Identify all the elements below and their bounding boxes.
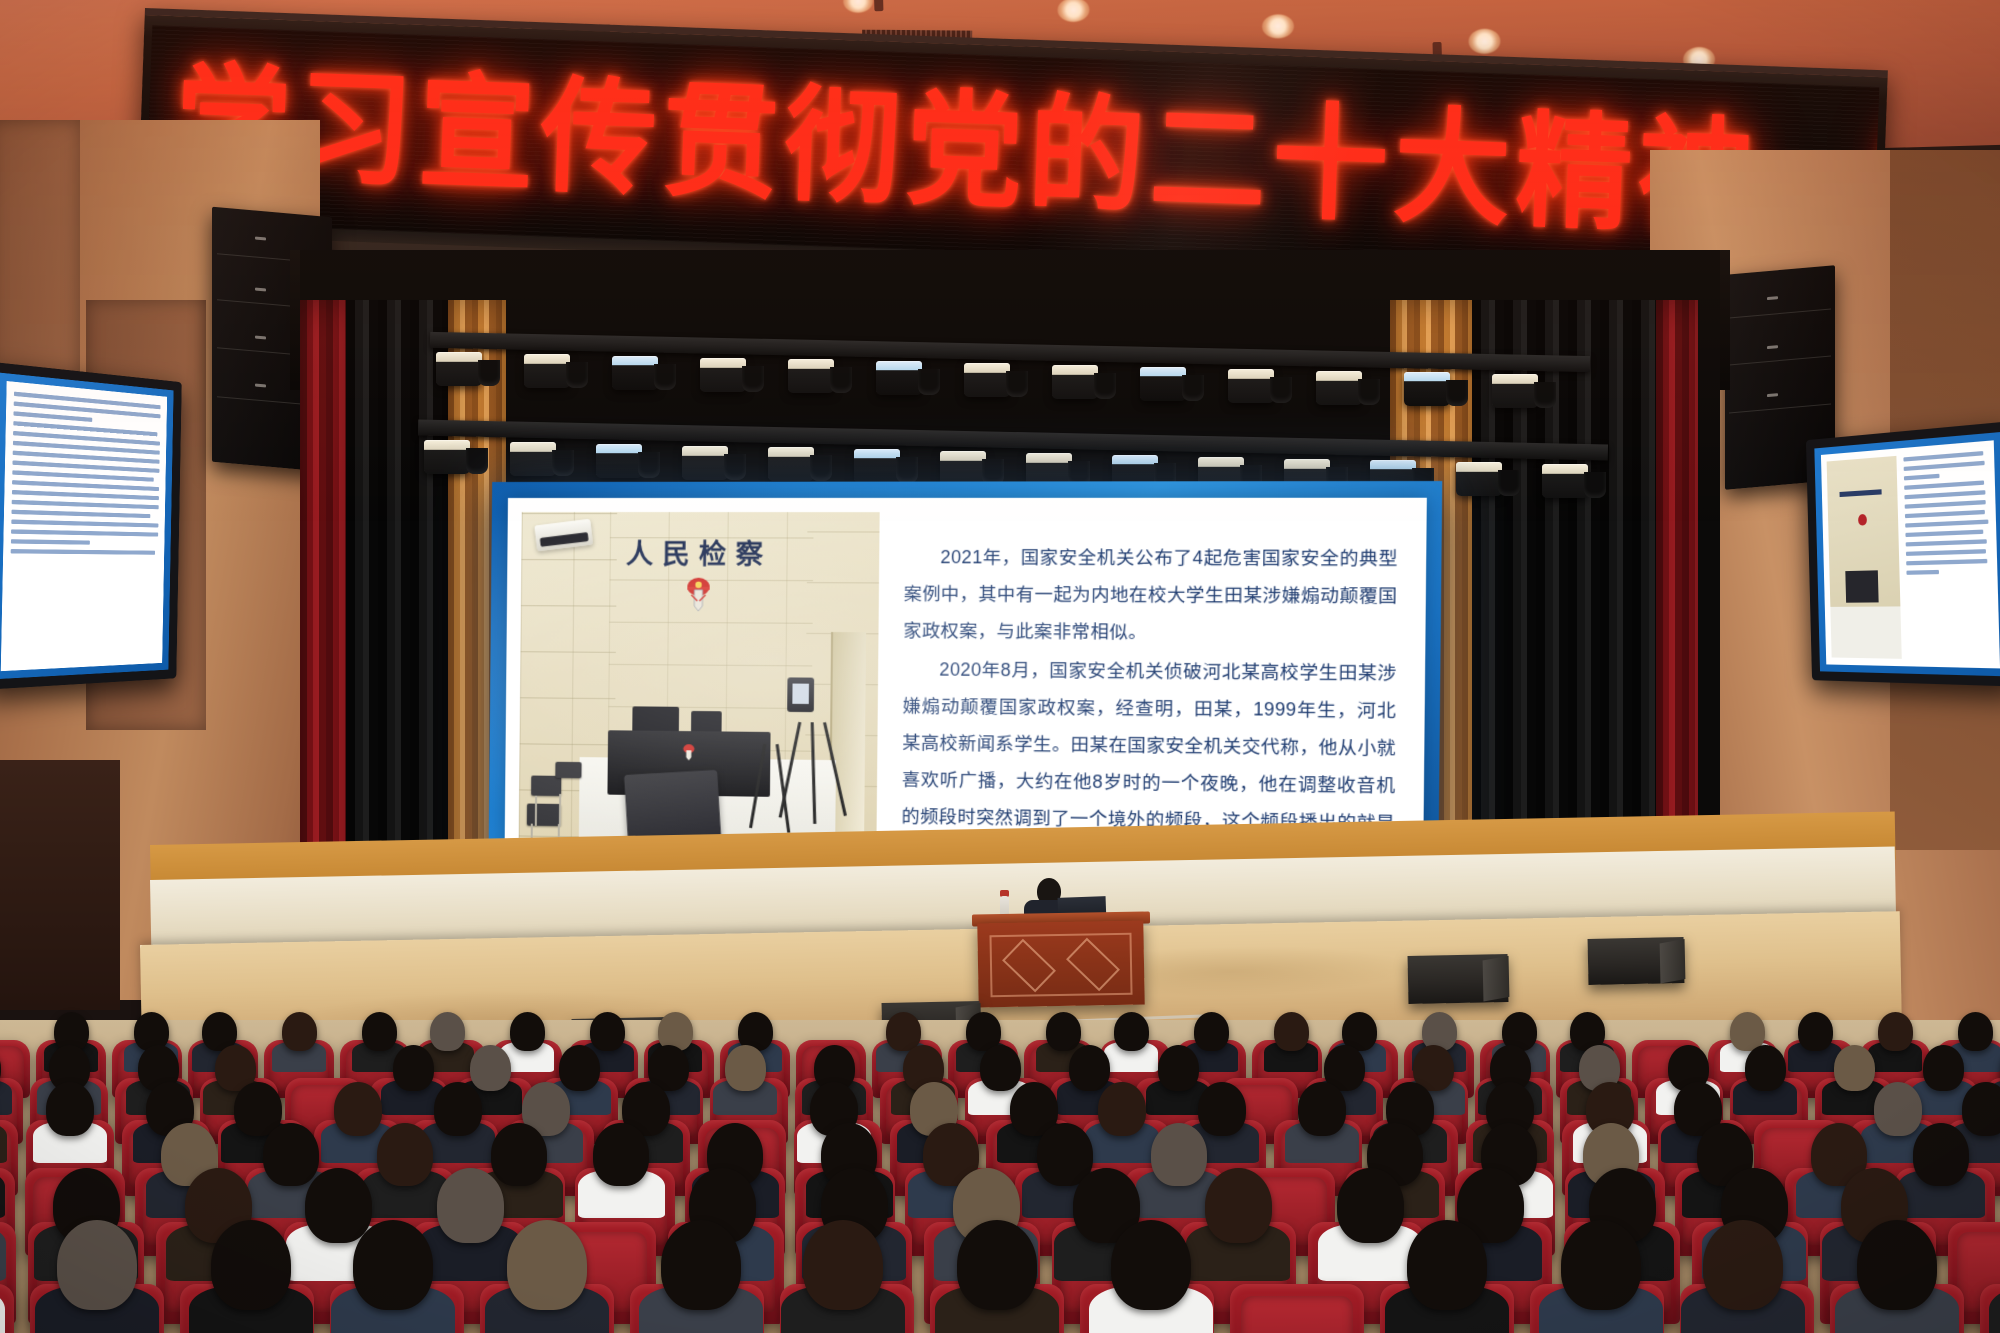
audience-member-head [1274, 1012, 1309, 1051]
audience-member-head [1111, 1220, 1191, 1310]
audience-member-head [1098, 1082, 1146, 1136]
stage-par-light [1542, 464, 1588, 498]
stage-light-body [638, 452, 660, 478]
audience-member-head [980, 1045, 1021, 1091]
display-text-line [1906, 549, 1986, 556]
speaker-badge-icon [255, 236, 266, 240]
audience-member-head [957, 1220, 1037, 1310]
audience-member-head [377, 1123, 433, 1186]
stage-par-light [1052, 365, 1098, 399]
audience-member-head [57, 1220, 137, 1310]
photo-chair-leg [559, 794, 561, 826]
audience-member-head [1878, 1012, 1913, 1051]
photo-camera-monitor [787, 677, 814, 712]
curtain-black-left [346, 300, 451, 910]
photo-chair [555, 762, 581, 778]
podium-diamond-motif [1066, 938, 1120, 992]
audience-member-head [437, 1168, 504, 1243]
left-display-screen [0, 373, 174, 680]
audience-member-head [886, 1012, 921, 1051]
stage-floor-monitor [1408, 954, 1509, 1004]
display-text-line [1905, 539, 1987, 546]
audience-member-head [434, 1082, 482, 1136]
ac-vent [540, 532, 589, 547]
speaker-badge-icon [1767, 345, 1778, 349]
audience-member-head [1158, 1045, 1199, 1091]
stage-light-body [1182, 375, 1204, 401]
podium-panel [989, 933, 1132, 997]
podium-diamond-motif [1002, 939, 1056, 993]
stage-par-light [1316, 371, 1362, 405]
audience-member-head [1046, 1012, 1081, 1051]
stage-par-light [682, 446, 728, 480]
stage-par-light [788, 359, 834, 393]
stage-par-light [1492, 374, 1538, 408]
display-text-line [1905, 530, 1983, 538]
audience-member-head [1874, 1082, 1922, 1136]
audience-member-head [1923, 1045, 1964, 1091]
audience-member-head [1114, 1012, 1149, 1051]
speaker-podium [977, 921, 1144, 1008]
stage-light-body [918, 369, 940, 395]
stage-par-light [876, 361, 922, 395]
audience-member-head [353, 1220, 433, 1310]
audience-member-head [430, 1012, 465, 1051]
stage-par-light [436, 352, 482, 386]
stage-par-light [596, 444, 642, 478]
audience-member-head [507, 1220, 587, 1310]
auditorium-scene: 学习宣传贯彻党的二十大精神，推动全面贯彻实施宪法。 [0, 0, 2000, 1333]
led-banner-screen: 学习宣传贯彻党的二十大精神，推动全面贯彻实施宪法。 [145, 25, 1879, 284]
wall-dark-recess [0, 760, 120, 1010]
procuratorate-emblem-icon [683, 575, 714, 614]
audience-member-head [393, 1045, 434, 1091]
audience-member-head [305, 1168, 372, 1243]
stage-light-body [810, 455, 832, 481]
display-text-line [1904, 480, 1984, 489]
audience-member-head [334, 1082, 382, 1136]
audience-member-head [1151, 1123, 1207, 1186]
photo-chair-leg [535, 796, 537, 826]
stage-par-light [964, 363, 1010, 397]
right-display-desk [1846, 570, 1879, 602]
display-text-line [11, 539, 90, 545]
speaker-cell [1729, 356, 1830, 366]
display-text-line [12, 480, 159, 491]
display-text-line [13, 411, 92, 422]
photo-chair [531, 776, 561, 796]
right-wall-display [1806, 421, 2000, 686]
speaker-cell [1729, 403, 1830, 413]
stage-light-body [1534, 382, 1556, 408]
audience-member-head [1913, 1123, 1969, 1186]
stage-par-light [612, 356, 658, 390]
speaker-cell [1729, 309, 1830, 319]
stage-light-body [566, 362, 588, 388]
stage-par-light [1456, 462, 1502, 496]
stage-par-light [1228, 369, 1274, 403]
stage-light-body [1584, 472, 1606, 498]
stage-par-light [940, 451, 986, 485]
display-text-line [1904, 490, 1986, 499]
speaker-badge-icon [255, 287, 266, 291]
stage-par-light [510, 442, 556, 476]
stage-light-body [1446, 380, 1468, 406]
photo-caption: 人民检察 [626, 532, 773, 572]
slide-paragraph-1: 2021年，国家安全机关公布了4起危害国家安全的典型案例中，其中有一起为内地在校… [903, 539, 1398, 653]
audience-member-head [1407, 1220, 1487, 1310]
display-text-line [11, 519, 158, 527]
stage-light-body [1094, 373, 1116, 399]
audience-member-head [470, 1045, 511, 1091]
audience-member-head [491, 1123, 547, 1186]
camera-screen [792, 683, 809, 703]
display-text-line [1905, 519, 1989, 527]
audience-member-head [1798, 1012, 1833, 1051]
display-text-line [1904, 500, 1986, 509]
left-display-page [1, 381, 167, 671]
stage-light-body [478, 360, 500, 386]
speaker-badge-icon [1767, 296, 1778, 300]
photo-equipment [691, 711, 722, 734]
stage-light-body [466, 448, 488, 474]
display-text-line [11, 529, 158, 536]
audience-member-head [510, 1012, 545, 1051]
audience-member-head [1069, 1045, 1110, 1091]
display-text-line [1906, 559, 1988, 566]
left-wall-display [0, 362, 182, 690]
stage-par-light [768, 447, 814, 481]
stage-light-body [724, 454, 746, 480]
audience-member-head [725, 1045, 766, 1091]
right-display-floor [1830, 606, 1901, 659]
audience-member-head [1561, 1220, 1641, 1310]
audience-member-head [362, 1012, 397, 1051]
desk-emblem-icon [682, 743, 696, 760]
display-text-line [1904, 474, 1940, 481]
audience-member-head [1337, 1168, 1404, 1243]
stage-light-body [1270, 377, 1292, 403]
stage-light-body [1498, 470, 1520, 496]
audience-member-head [1962, 1082, 2000, 1136]
stage-par-light [524, 354, 570, 388]
audience-member-head [211, 1220, 291, 1310]
curtain-red-left [300, 300, 348, 900]
audience-member-head [590, 1012, 625, 1051]
display-text-line [1903, 451, 1983, 462]
audience-member-head [282, 1012, 317, 1051]
audience-member-head [1205, 1168, 1272, 1243]
stage-light-body [742, 366, 764, 392]
display-text-line [11, 510, 150, 519]
audience-member-head [593, 1123, 649, 1186]
right-display-emblem-icon [1858, 514, 1867, 526]
right-display-text [1896, 440, 2000, 668]
stage-par-light [1140, 367, 1186, 401]
stage-par-light [854, 449, 900, 483]
display-text-line [1903, 461, 1985, 471]
audience-member-head [661, 1220, 741, 1310]
stage-light-body [552, 450, 574, 476]
display-text-line [12, 500, 159, 509]
audience-member-head [1703, 1220, 1783, 1310]
right-display-page [1821, 440, 2000, 668]
photo-monitor [632, 707, 679, 734]
audience-member-head [263, 1123, 319, 1186]
right-display-photo [1827, 456, 1902, 659]
stage-light-body [654, 364, 676, 390]
stage-light-body [896, 457, 918, 483]
stage-par-light [700, 358, 746, 392]
right-display-photo-title [1840, 489, 1882, 497]
audience-member-head [1298, 1082, 1346, 1136]
audience-member-head [1857, 1220, 1937, 1310]
display-text-line [12, 470, 154, 481]
audience-seat [1230, 1284, 1364, 1333]
stage-light-body [830, 367, 852, 393]
audience-member-head [1198, 1082, 1246, 1136]
display-text-line [11, 549, 155, 555]
curtain-red-right [1656, 300, 1698, 890]
audience-member-head [1194, 1012, 1229, 1051]
speaker-badge-icon [255, 335, 266, 339]
audience-member-head [803, 1220, 883, 1310]
audience-member-head [46, 1082, 94, 1136]
display-text-line [1905, 510, 1985, 518]
audience-member-head [1958, 1012, 1993, 1051]
left-display-text [1, 381, 167, 671]
stage-floor-monitor [1588, 937, 1685, 985]
display-text-line [1906, 570, 1939, 575]
stage-light-body [1358, 379, 1380, 405]
stage-light-body [1006, 371, 1028, 397]
audience-member-head [1834, 1045, 1875, 1091]
audience-member-head [1745, 1045, 1786, 1091]
right-display-screen [1814, 432, 2000, 676]
stage-par-light [424, 440, 470, 474]
speaker-badge-icon [1767, 393, 1778, 397]
ceiling-hook-icon [874, 0, 883, 11]
stage-par-light [1404, 372, 1450, 406]
audience-member-head [559, 1045, 600, 1091]
display-text-line [12, 490, 159, 500]
speaker-badge-icon [255, 384, 266, 388]
